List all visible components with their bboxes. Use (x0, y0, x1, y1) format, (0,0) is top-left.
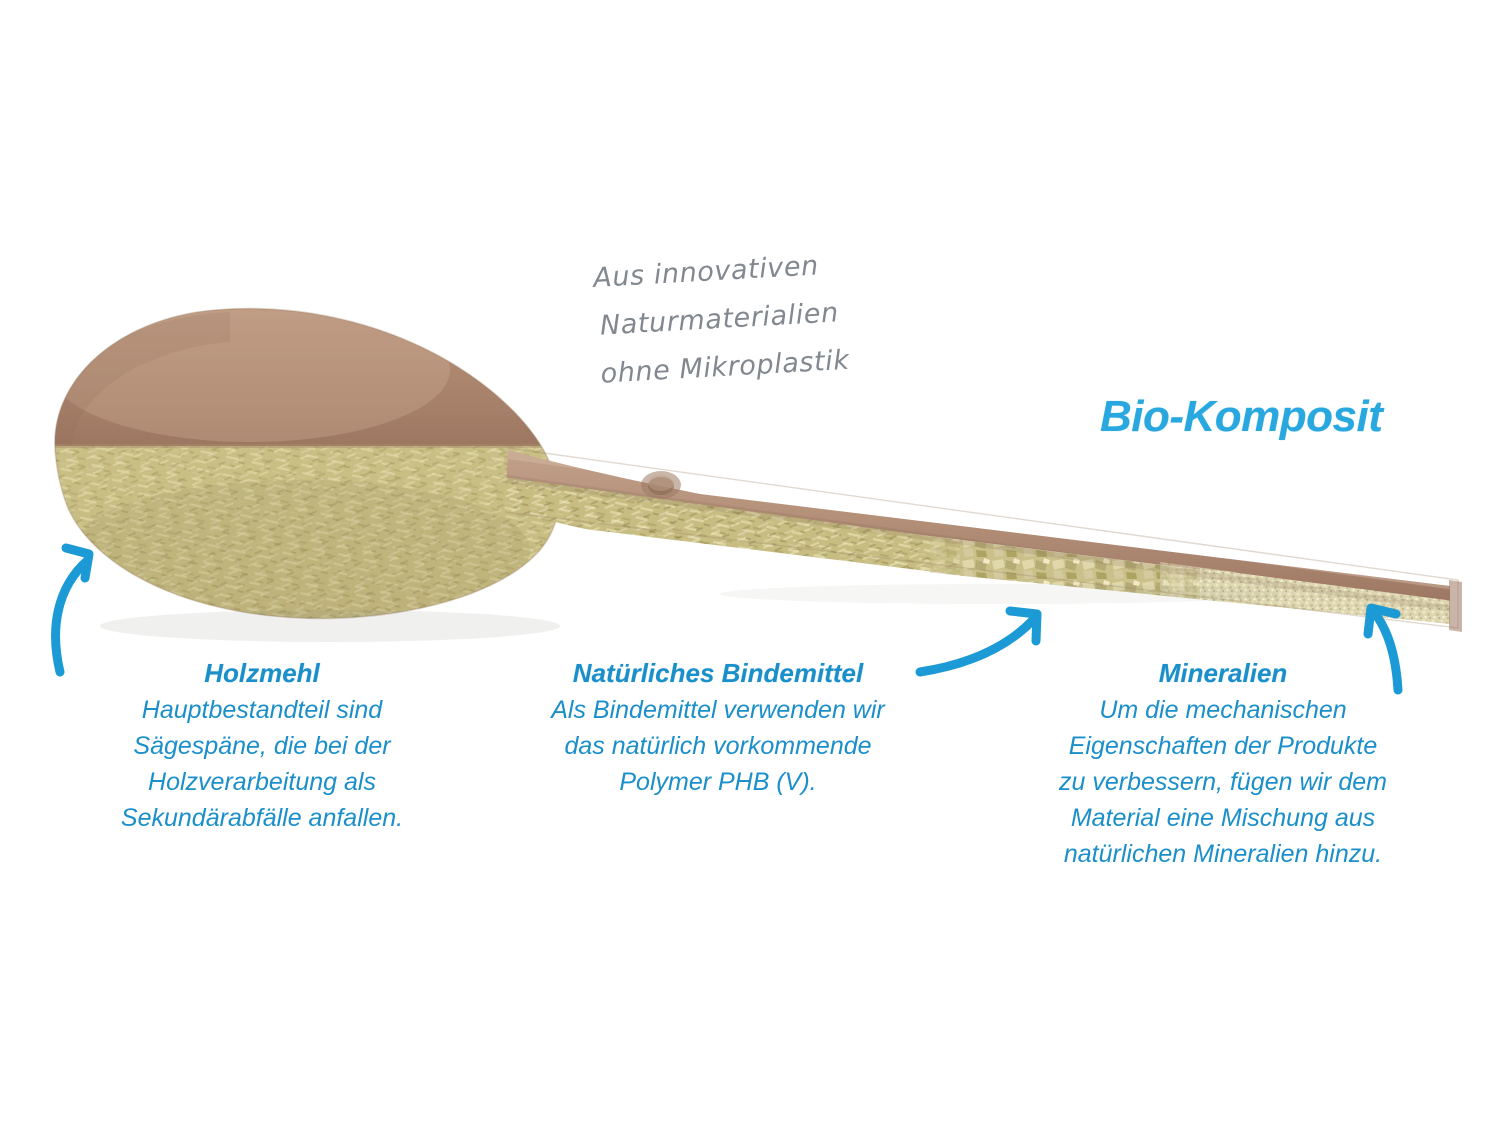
page-title: Bio-Komposit (1100, 392, 1382, 442)
caption-holzmehl-line-3: Holzverarbeitung als (62, 764, 462, 800)
caption-mineralien-line-5: natürlichen Mineralien hinzu. (1008, 836, 1438, 872)
caption-holzmehl: Holzmehl Hauptbestandteil sind Sägespäne… (62, 656, 462, 836)
caption-holzmehl-line-2: Sägespäne, die bei der (62, 728, 462, 764)
caption-mineralien-line-2: Eigenschaften der Produkte (1008, 728, 1438, 764)
handle-hole-detail (641, 471, 681, 499)
caption-bindemittel-line-3: Polymer PHB (V). (492, 764, 944, 800)
caption-holzmehl-line-4: Sekundärabfälle anfallen. (62, 800, 462, 836)
caption-mineralien-line-3: zu verbessern, fügen wir dem (1008, 764, 1438, 800)
infographic-canvas: Bio-Komposit Aus innovativen Naturmateri… (0, 0, 1500, 1147)
caption-mineralien-line-1: Um die mechanischen (1008, 692, 1438, 728)
caption-bindemittel-line-1: Als Bindemittel verwenden wir (492, 692, 944, 728)
caption-mineralien-line-4: Material eine Mischung aus (1008, 800, 1438, 836)
caption-bindemittel-heading: Natürliches Bindemittel (492, 656, 944, 690)
caption-bindemittel-line-2: das natürlich vorkommende (492, 728, 944, 764)
handwritten-note-line-1: Aus innovativen (592, 250, 819, 294)
caption-mineralien-heading: Mineralien (1008, 656, 1438, 690)
caption-mineralien: Mineralien Um die mechanischen Eigenscha… (1008, 656, 1438, 872)
caption-bindemittel: Natürliches Bindemittel Als Bindemittel … (492, 656, 944, 800)
caption-holzmehl-heading: Holzmehl (62, 656, 462, 690)
handwritten-note: Aus innovativen Naturmaterialien ohne Mi… (592, 232, 1019, 399)
caption-holzmehl-line-1: Hauptbestandteil sind (62, 692, 462, 728)
